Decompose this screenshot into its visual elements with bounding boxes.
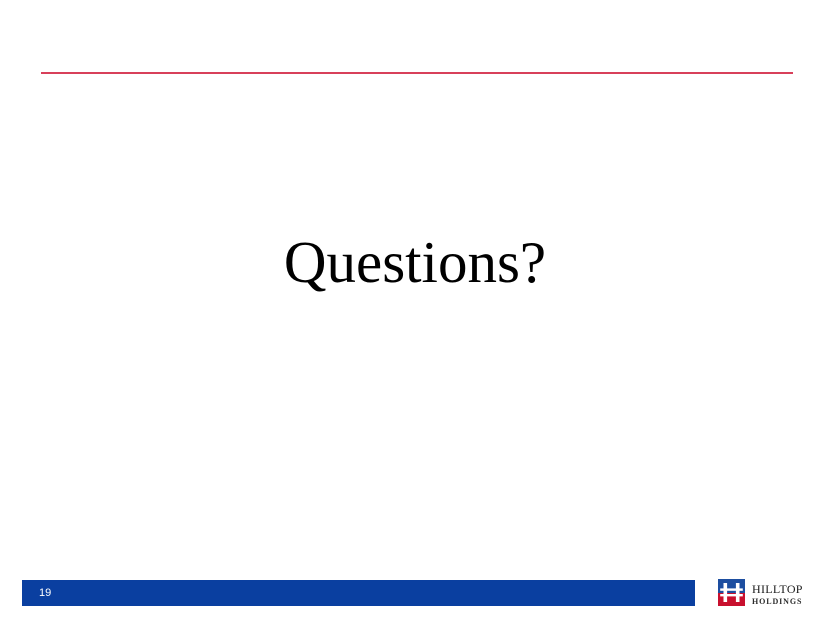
- page-number: 19: [39, 580, 51, 606]
- logo-subtitle: HOLDINGS: [752, 598, 803, 606]
- logo-name: Hilltop: [752, 579, 803, 596]
- title-divider-rule: [41, 72, 793, 74]
- hilltop-holdings-logo: Hilltop HOLDINGS: [718, 577, 823, 607]
- page-title: Questions?: [284, 232, 546, 294]
- hilltop-logo-mark-icon: [718, 579, 745, 606]
- headline-container: Questions?: [0, 232, 830, 294]
- logo-wordmark: Hilltop HOLDINGS: [752, 579, 803, 606]
- footer-bar: 19: [22, 580, 695, 606]
- slide-canvas: Questions? 19 Hilltop HOLDINGS: [0, 0, 830, 623]
